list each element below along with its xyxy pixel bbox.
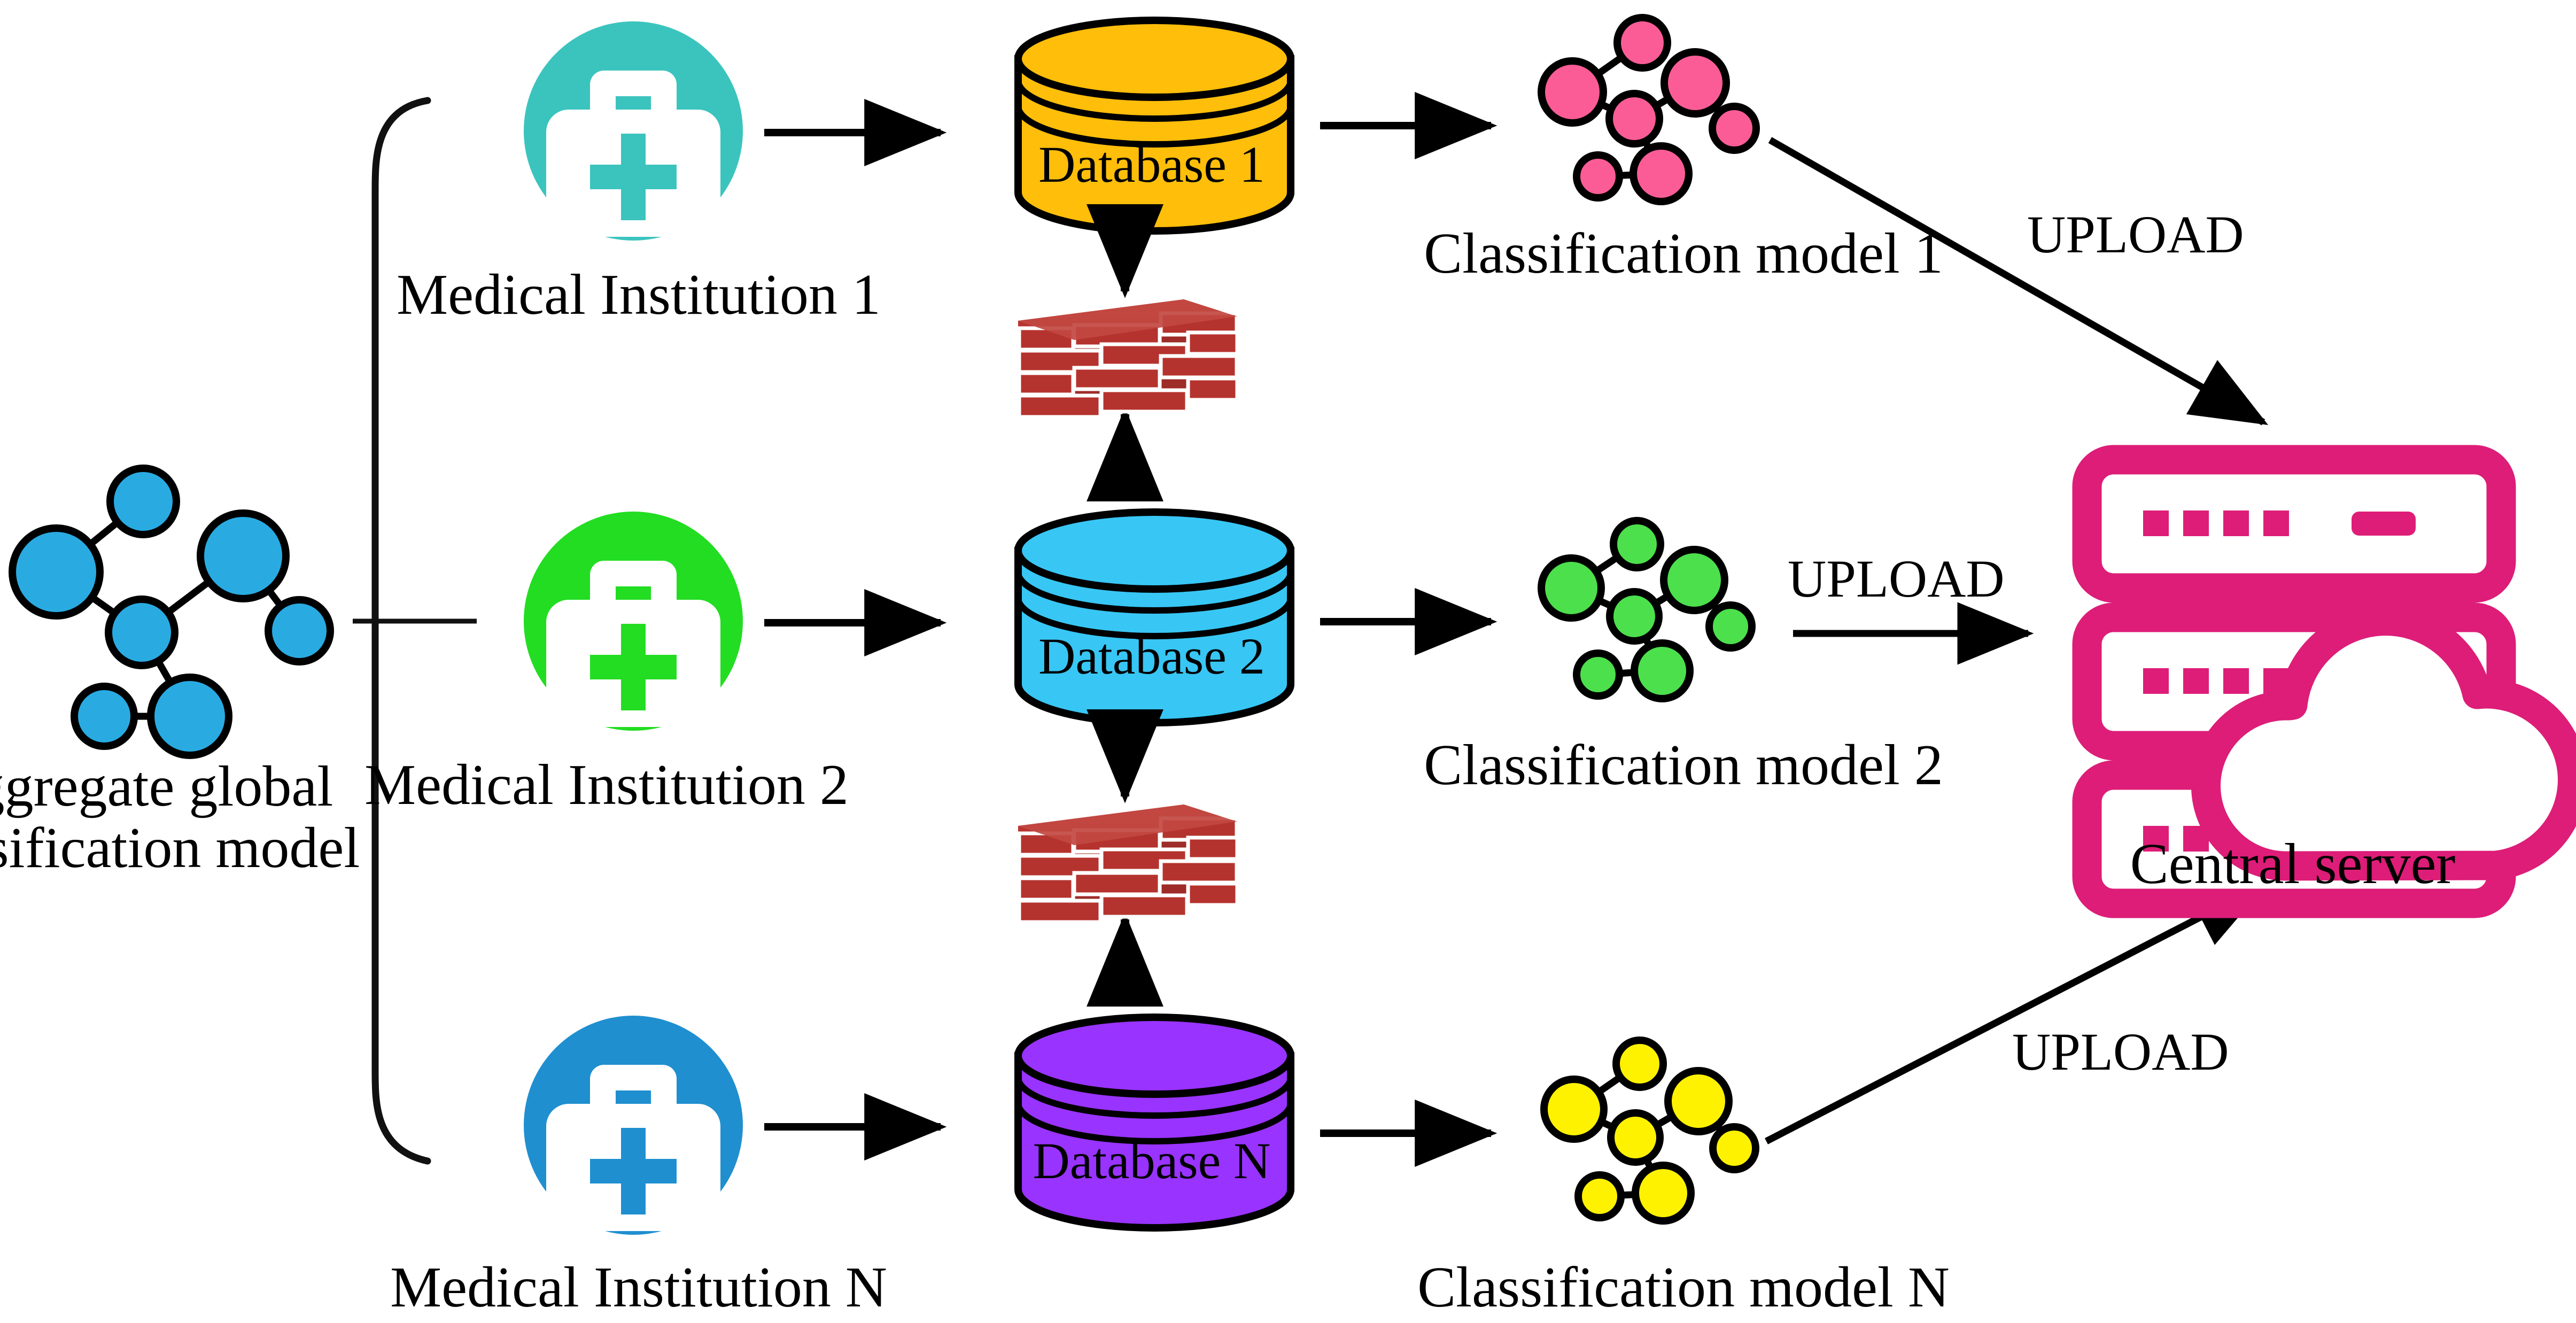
- classification-model-2-graph: [1541, 521, 1752, 699]
- global-model-graph: [12, 468, 330, 755]
- firewall-brick-wall-icon-1: [1018, 299, 1237, 417]
- database-2-icon[interactable]: [1018, 512, 1291, 723]
- institution-1-label: Medical Institution 1: [397, 265, 881, 325]
- firewall-brick-wall-icon-2: [1018, 804, 1237, 922]
- global-model-label-line2: classification model: [0, 818, 360, 878]
- global-model-label-line1: Aggregate global: [0, 756, 333, 817]
- diagram-canvas: Aggregate global classification model Me…: [0, 0, 2576, 1323]
- database-2-label: Database 2: [1038, 630, 1265, 684]
- classification-model-1-graph: [1541, 18, 1756, 202]
- medical-institution-1-icon[interactable]: [524, 21, 743, 241]
- upload-arrow-3: [1766, 885, 2263, 1141]
- institution-n-label: Medical Institution N: [390, 1257, 887, 1318]
- upload-label-3: UPLOAD: [2012, 1024, 2229, 1080]
- medical-institution-2-icon[interactable]: [524, 512, 743, 731]
- database-1-label: Database 1: [1038, 138, 1265, 192]
- database-n-icon[interactable]: [1018, 1017, 1291, 1228]
- upload-label-1: UPLOAD: [2027, 206, 2244, 262]
- model-2-label: Classification model 2: [1424, 735, 1943, 795]
- classification-model-n-graph: [1544, 1040, 1756, 1221]
- diagram-graphics: [0, 0, 2576, 1323]
- grouping-brace: [353, 100, 477, 1161]
- database-1-icon[interactable]: [1018, 20, 1291, 231]
- upload-label-2: UPLOAD: [1788, 551, 2005, 607]
- institution-2-label: Medical Institution 2: [364, 755, 849, 815]
- model-n-label: Classification model N: [1417, 1257, 1950, 1318]
- central-server-label: Central server: [2130, 834, 2456, 894]
- medical-institution-n-icon[interactable]: [524, 1016, 743, 1235]
- database-n-label: Database N: [1033, 1134, 1270, 1188]
- model-1-label: Classification model 1: [1424, 223, 1943, 284]
